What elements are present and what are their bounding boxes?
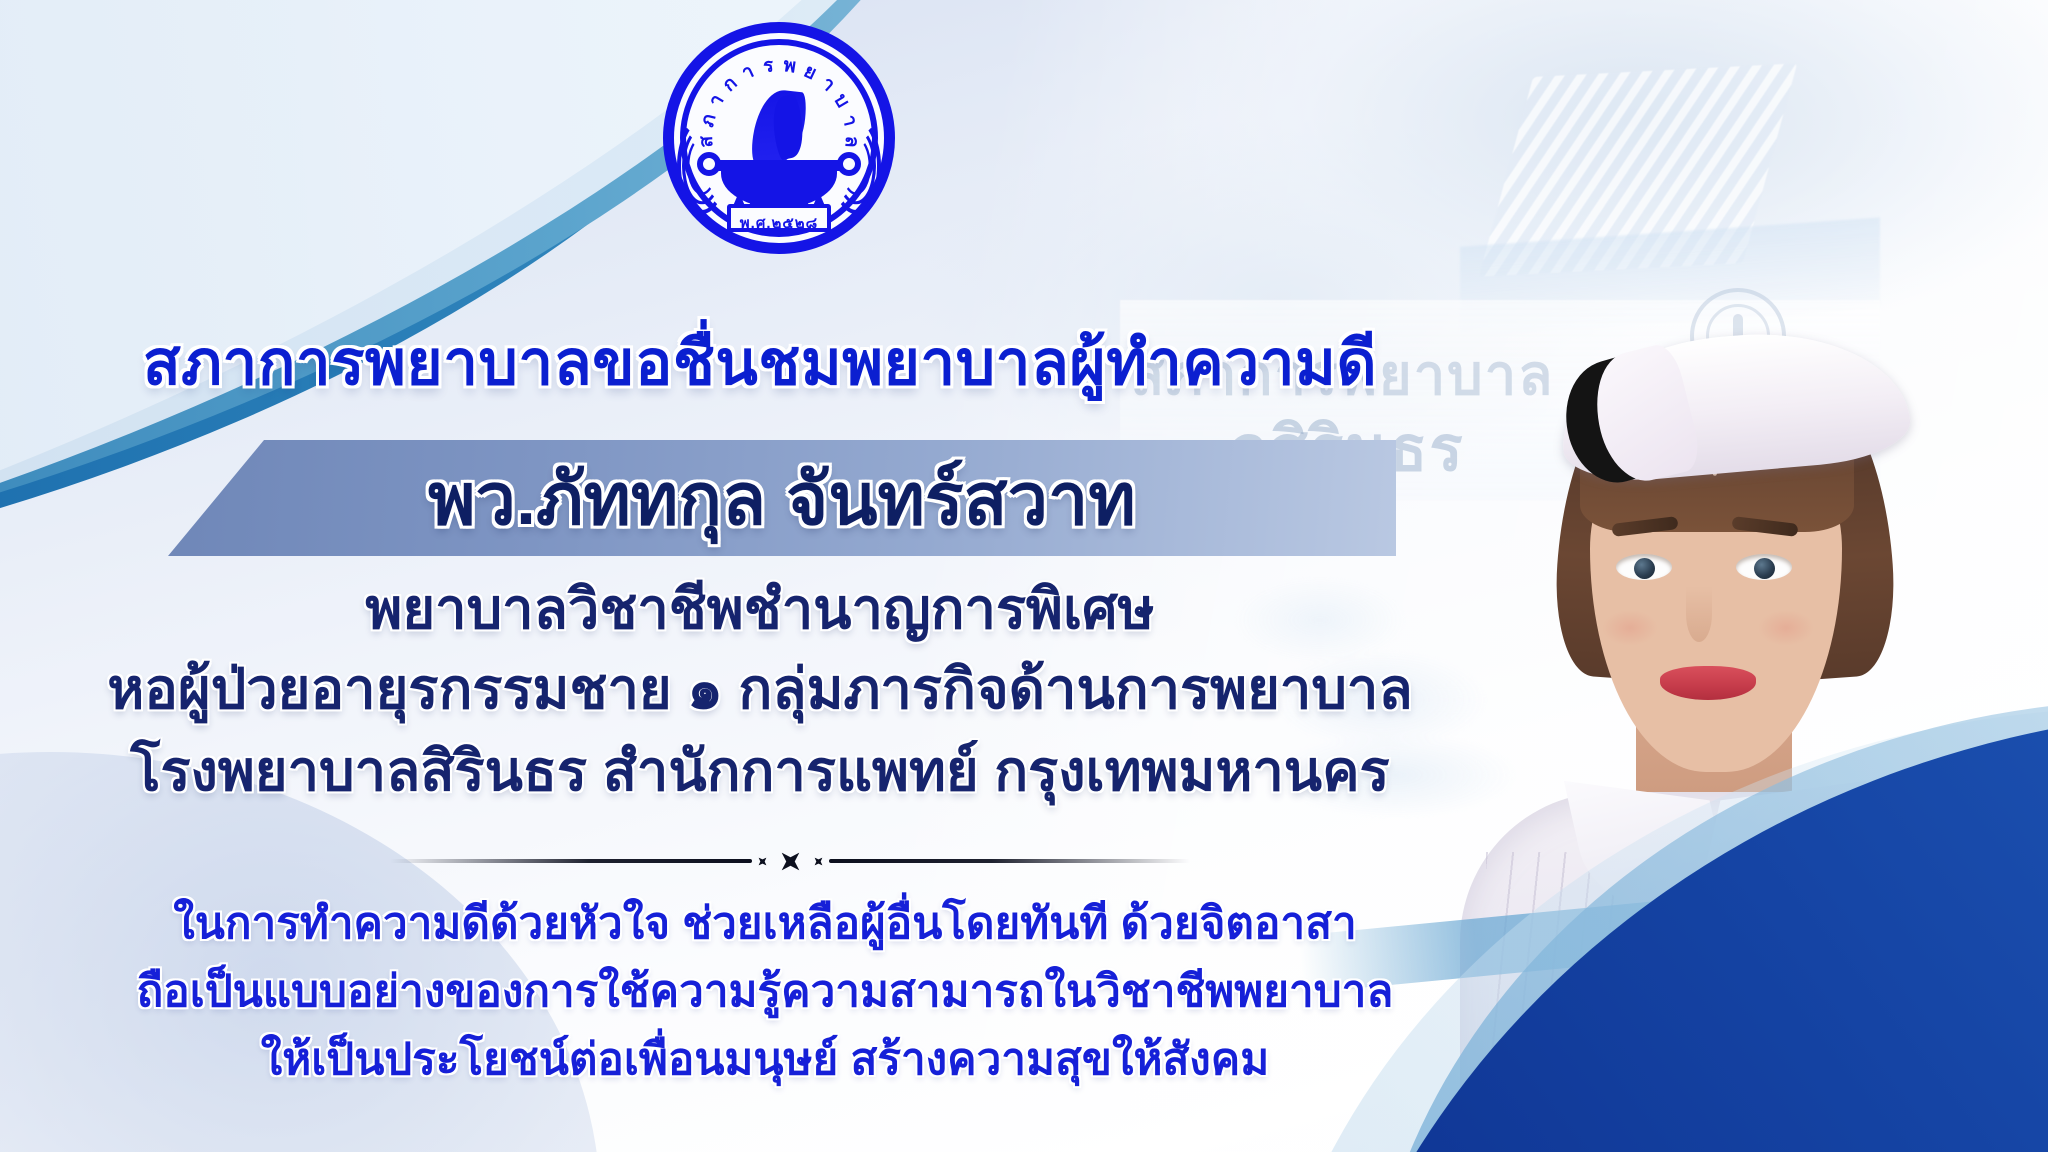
citation-line-2: ถือเป็นแบบอย่างของการใช้ความรู้ความสามาร… bbox=[0, 968, 1530, 1016]
portrait-hair-part bbox=[1713, 388, 1728, 476]
nurse-cap-black-stripe bbox=[1551, 345, 1692, 493]
seal-year-text: พ.ศ.๒๕๒๘ bbox=[731, 211, 827, 235]
bottom-left-glow bbox=[0, 752, 600, 1152]
portrait-pupil-left bbox=[1634, 558, 1655, 579]
hospital-canopy-band bbox=[1460, 217, 1880, 336]
position-line-1: พยาบาลวิชาชีพชำนาญการพิเศษ bbox=[0, 580, 1520, 639]
portrait-eye-left bbox=[1616, 554, 1672, 580]
seal-arc-char: า bbox=[736, 56, 758, 88]
portrait-collar-right bbox=[1694, 781, 1866, 919]
portrait-uniform bbox=[1460, 792, 1980, 1152]
position-line-3: โรงพยาบาลสิรินธร สำนักการแพทย์ กรุงเทพมห… bbox=[0, 742, 1520, 801]
seal-arc-char: ก bbox=[716, 69, 745, 99]
portrait-collar-left bbox=[1564, 781, 1736, 919]
nurse-cap bbox=[1555, 321, 1914, 487]
nursing-council-seal-icon: สภาการพยาบาล พ.ศ.๒๕๒๘ bbox=[663, 22, 895, 254]
divider-line-left bbox=[390, 859, 752, 863]
page-title: สภาการพยาบาลขอชื่นชมพยาบาลผู้ทำความดี bbox=[0, 330, 1520, 398]
portrait-hair-right bbox=[1760, 374, 1901, 682]
seal-arc-char: พ bbox=[781, 50, 798, 82]
seal-lamp-knob-left bbox=[697, 152, 721, 176]
ornamental-divider bbox=[390, 848, 1190, 874]
portrait-pupil-right bbox=[1754, 558, 1775, 579]
seal-arc-char: า bbox=[701, 88, 732, 113]
portrait-name-tag: ภัททกุล จันทร์สวาท พยาบาลวิชาชีพ bbox=[1841, 807, 1993, 903]
citation-line-1: ในการทำความดีด้วยหัวใจ ช่วยเหลือผู้อื่นโ… bbox=[0, 900, 1530, 948]
name-tag-line-2: พยาบาลวิชาชีพ bbox=[1845, 861, 1992, 890]
name-tag-line-1: ภัททกุล จันทร์สวาท bbox=[1844, 843, 1991, 874]
award-poster: สภาการพยาบาล ลสิรินธร ภัททกุล จันทร์สวาท… bbox=[0, 0, 2048, 1152]
position-line-2: หอผู้ป่วยอายุรกรรมชาย ๑ กลุ่มภารกิจด้านก… bbox=[0, 660, 1520, 719]
honoree-name: พว.ภัททกุล จันทร์สวาท bbox=[168, 440, 1396, 556]
seal-arc-char: ย bbox=[799, 56, 822, 88]
watermark-seal-icon bbox=[1690, 288, 1786, 384]
name-tag-logo-icon bbox=[1899, 816, 1927, 844]
nurse-portrait: ภัททกุล จันทร์สวาท พยาบาลวิชาชีพ bbox=[1440, 292, 2000, 1152]
portrait-neck bbox=[1636, 664, 1792, 854]
portrait-hair-left bbox=[1550, 374, 1691, 682]
seal-lamp-knob-right bbox=[837, 152, 861, 176]
citation-line-3: ให้เป็นประโยชน์ต่อเพื่อนมนุษย์ สร้างความ… bbox=[0, 1036, 1530, 1084]
portrait-uniform-pin bbox=[1798, 864, 1832, 898]
portrait-nose bbox=[1686, 586, 1712, 642]
seal-arc-char: บ bbox=[826, 88, 858, 114]
portrait-eyebrow-right bbox=[1731, 516, 1798, 537]
portrait-hair-top bbox=[1580, 382, 1854, 532]
divider-diamond-small-right bbox=[810, 853, 826, 869]
portrait-eye-right bbox=[1736, 554, 1792, 580]
portrait-cheek-left bbox=[1602, 610, 1658, 646]
portrait-cheek-right bbox=[1758, 610, 1814, 646]
seal-year-plinth: พ.ศ.๒๕๒๘ bbox=[727, 204, 831, 232]
divider-diamond-small-left bbox=[754, 853, 770, 869]
portrait-lips bbox=[1660, 666, 1756, 700]
portrait-eyebrow-left bbox=[1611, 516, 1678, 537]
portrait-face bbox=[1590, 412, 1842, 772]
seal-arc-char: ร bbox=[761, 50, 776, 81]
nurse-cap-fold bbox=[1584, 341, 1705, 489]
divider-diamond-large bbox=[772, 843, 807, 878]
hospital-roof-slats bbox=[1479, 63, 1797, 276]
divider-line-right bbox=[829, 859, 1191, 863]
